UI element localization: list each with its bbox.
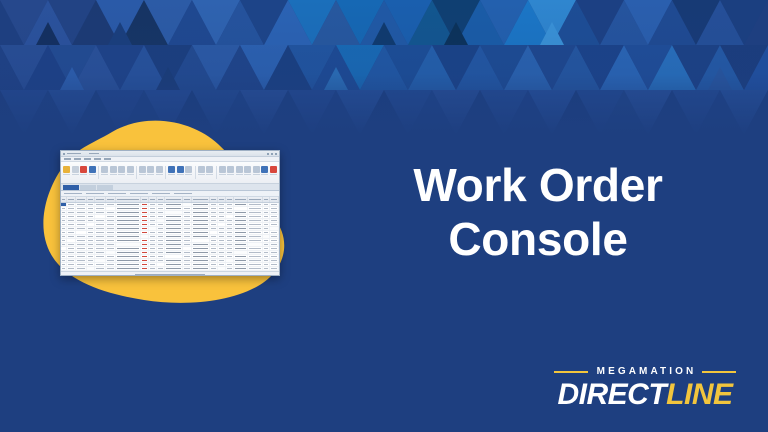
grid-column-header[interactable] xyxy=(87,197,95,202)
megamation-directline-logo: MEGAMATION DIRECTLINE xyxy=(550,366,740,410)
table-cell xyxy=(141,231,149,234)
table-cell xyxy=(234,255,248,258)
app-icon xyxy=(63,153,65,155)
table-cell xyxy=(149,211,157,214)
table-cell xyxy=(226,263,234,266)
table-cell xyxy=(106,227,116,230)
table-cell xyxy=(157,211,165,214)
table-cell xyxy=(165,259,183,262)
table-cell xyxy=(270,239,279,242)
table-cell xyxy=(141,235,149,238)
table-cell xyxy=(192,267,210,270)
table-cell xyxy=(87,207,95,210)
table-cell xyxy=(263,235,270,238)
table-cell xyxy=(116,235,140,238)
tab-work-orders[interactable] xyxy=(63,185,79,190)
table-cell xyxy=(95,259,106,262)
table-cell xyxy=(106,203,116,206)
table-cell xyxy=(157,215,165,218)
table-cell xyxy=(157,247,165,250)
menu-item-tools[interactable] xyxy=(94,158,101,160)
table-cell xyxy=(263,231,270,234)
table-cell xyxy=(263,239,270,242)
grid-column-header[interactable] xyxy=(76,197,86,202)
table-cell xyxy=(226,247,234,250)
table-cell xyxy=(116,243,140,246)
table-cell xyxy=(149,247,157,250)
page-title-line-1: Work Order xyxy=(336,158,740,212)
table-cell xyxy=(263,223,270,226)
menu-item-view[interactable] xyxy=(84,158,91,160)
table-cell xyxy=(95,239,106,242)
table-cell xyxy=(106,243,116,246)
table-cell xyxy=(76,227,86,230)
table-cell xyxy=(157,239,165,242)
table-cell xyxy=(67,251,76,254)
table-cell xyxy=(183,207,192,210)
table-cell xyxy=(157,203,165,206)
table-cell xyxy=(248,223,263,226)
table-cell xyxy=(192,251,210,254)
table-cell xyxy=(157,255,165,258)
table-cell xyxy=(106,235,116,238)
toolbar-separator xyxy=(216,166,217,179)
table-cell xyxy=(87,211,95,214)
table-cell xyxy=(76,223,86,226)
table-cell xyxy=(87,219,95,222)
table-cell xyxy=(263,215,270,218)
toolbar-sort-icon[interactable] xyxy=(147,165,154,181)
table-cell xyxy=(234,263,248,266)
table-cell xyxy=(67,215,76,218)
table-cell xyxy=(248,247,263,250)
table-cell xyxy=(263,251,270,254)
table-cell xyxy=(218,215,226,218)
grid-column-header[interactable] xyxy=(248,197,263,202)
table-cell xyxy=(149,243,157,246)
table-cell xyxy=(183,227,192,230)
toolbar-delete-icon[interactable] xyxy=(80,165,87,181)
table-cell xyxy=(165,215,183,218)
minimize-icon[interactable] xyxy=(267,153,269,155)
table-cell xyxy=(67,203,76,206)
table-cell xyxy=(87,215,95,218)
table-cell xyxy=(67,255,76,258)
table-cell xyxy=(248,255,263,258)
table-cell xyxy=(248,231,263,234)
toolbar-settings-icon[interactable] xyxy=(252,165,259,181)
toolbar-user-icon[interactable] xyxy=(261,165,268,181)
table-cell xyxy=(116,263,140,266)
table-cell xyxy=(157,227,165,230)
table-cell xyxy=(226,207,234,210)
table-cell xyxy=(192,243,210,246)
table-cell xyxy=(87,227,95,230)
toolbar-first-icon[interactable] xyxy=(218,165,225,181)
table-cell xyxy=(183,251,192,254)
table-cell xyxy=(106,255,116,258)
table-cell xyxy=(116,203,140,206)
table-cell xyxy=(87,223,95,226)
table-cell xyxy=(183,259,192,262)
table-cell xyxy=(218,239,226,242)
table-cell xyxy=(183,211,192,214)
filter-site[interactable] xyxy=(86,193,104,195)
table-cell xyxy=(149,255,157,258)
table-cell xyxy=(76,231,86,234)
table-cell xyxy=(95,219,106,222)
table-cell xyxy=(165,223,183,226)
table-cell xyxy=(67,231,76,234)
table-cell xyxy=(165,263,183,266)
table-cell xyxy=(234,207,248,210)
filter-priority[interactable] xyxy=(130,193,148,195)
table-cell xyxy=(95,247,106,250)
app-title-sub xyxy=(89,153,99,155)
table-cell xyxy=(270,251,279,254)
tab-pm[interactable] xyxy=(97,185,113,190)
table-cell xyxy=(67,259,76,262)
table-cell xyxy=(67,267,76,270)
close-icon[interactable] xyxy=(275,153,277,155)
table-cell xyxy=(234,251,248,254)
grid-column-header[interactable] xyxy=(157,197,165,202)
table-cell xyxy=(226,251,234,254)
table-cell xyxy=(270,223,279,226)
table-cell xyxy=(141,247,149,250)
toolbar-export-icon[interactable] xyxy=(177,165,184,181)
toolbar-separator xyxy=(165,166,166,179)
table-cell xyxy=(270,211,279,214)
slide-canvas: Work Order Console MEGAMATION DIRECTLINE xyxy=(0,0,768,432)
table-cell xyxy=(165,267,183,270)
table-cell xyxy=(192,247,210,250)
table-cell xyxy=(210,207,218,210)
table-cell xyxy=(248,243,263,246)
table-cell xyxy=(149,223,157,226)
table-cell xyxy=(106,215,116,218)
table-cell xyxy=(234,239,248,242)
toolbar-paste-icon[interactable] xyxy=(126,165,133,181)
table-cell xyxy=(87,247,95,250)
table-cell xyxy=(67,223,76,226)
table-cell xyxy=(218,251,226,254)
table-cell xyxy=(116,247,140,250)
toolbar-back-icon[interactable] xyxy=(71,165,78,181)
filter-date[interactable] xyxy=(152,193,170,195)
grid-column-header[interactable] xyxy=(95,197,106,202)
table-cell xyxy=(210,267,218,270)
toolbar-save-icon[interactable] xyxy=(88,165,95,181)
table-cell xyxy=(141,267,149,270)
table-cell xyxy=(165,227,183,230)
table-cell xyxy=(76,235,86,238)
table-cell xyxy=(183,203,192,206)
table-cell xyxy=(116,267,140,270)
table-cell xyxy=(234,231,248,234)
table-cell xyxy=(218,267,226,270)
table-cell xyxy=(270,207,279,210)
table-cell xyxy=(95,235,106,238)
table-cell xyxy=(183,219,192,222)
filter-status[interactable] xyxy=(64,193,82,195)
table-cell xyxy=(87,255,95,258)
table-cell xyxy=(157,243,165,246)
table-cell xyxy=(263,259,270,262)
table-cell xyxy=(263,243,270,246)
table-cell xyxy=(192,259,210,262)
table-cell xyxy=(218,259,226,262)
table-cell xyxy=(183,247,192,250)
table-cell xyxy=(270,255,279,258)
table-cell xyxy=(149,235,157,238)
table-cell xyxy=(116,215,140,218)
table-cell xyxy=(263,203,270,206)
table-cell xyxy=(218,219,226,222)
table-cell xyxy=(116,231,140,234)
table-cell xyxy=(263,219,270,222)
table-cell xyxy=(192,235,210,238)
table-cell xyxy=(226,267,234,270)
table-cell xyxy=(141,219,149,222)
table-cell xyxy=(248,251,263,254)
table-cell xyxy=(95,203,106,206)
table-cell xyxy=(157,223,165,226)
table-cell xyxy=(141,259,149,262)
table-cell xyxy=(76,207,86,210)
toolbar-assign-icon[interactable] xyxy=(198,165,205,181)
table-cell xyxy=(270,263,279,266)
toolbar-next-icon[interactable] xyxy=(235,165,242,181)
table-cell xyxy=(226,239,234,242)
table-cell xyxy=(106,223,116,226)
table-cell xyxy=(263,211,270,214)
table-cell xyxy=(149,203,157,206)
table-cell xyxy=(226,227,234,230)
table-cell xyxy=(226,259,234,262)
table-cell xyxy=(141,203,149,206)
table-cell xyxy=(165,211,183,214)
table-cell xyxy=(234,267,248,270)
table-cell xyxy=(218,235,226,238)
table-cell xyxy=(95,223,106,226)
table-cell xyxy=(248,227,263,230)
table-cell xyxy=(149,259,157,262)
table-cell xyxy=(226,231,234,234)
page-title-line-2: Console xyxy=(336,212,740,266)
table-cell xyxy=(248,211,263,214)
table-cell xyxy=(95,231,106,234)
table-cell xyxy=(95,263,106,266)
table-cell xyxy=(76,267,86,270)
table-cell xyxy=(263,263,270,266)
table-cell xyxy=(226,235,234,238)
table-cell xyxy=(141,207,149,210)
table-cell xyxy=(106,207,116,210)
table-cell xyxy=(270,219,279,222)
table-cell xyxy=(234,219,248,222)
grid-status-bar xyxy=(61,271,279,276)
table-cell xyxy=(87,251,95,254)
table-cell xyxy=(218,263,226,266)
table-cell xyxy=(183,263,192,266)
toolbar-close-module-icon[interactable] xyxy=(269,165,276,181)
grid-body[interactable] xyxy=(61,203,279,271)
grid-column-header[interactable] xyxy=(183,197,192,202)
toolbar-schedule-icon[interactable] xyxy=(206,165,213,181)
toolbar-new-icon[interactable] xyxy=(101,165,108,181)
grid-column-header[interactable] xyxy=(218,197,226,202)
table-cell xyxy=(76,255,86,258)
table-cell xyxy=(141,215,149,218)
grid-column-header[interactable] xyxy=(141,197,149,202)
table-cell xyxy=(106,231,116,234)
grid-column-header[interactable] xyxy=(67,197,76,202)
table-cell xyxy=(248,239,263,242)
table-cell xyxy=(210,223,218,226)
table-cell xyxy=(141,251,149,254)
table-cell xyxy=(76,203,86,206)
table-cell xyxy=(165,207,183,210)
table-cell xyxy=(226,203,234,206)
grid-column-header[interactable] xyxy=(165,197,183,202)
table-cell xyxy=(149,239,157,242)
table-cell xyxy=(270,215,279,218)
table-cell xyxy=(165,243,183,246)
logo-brand-line: LINE xyxy=(666,378,732,411)
table-cell xyxy=(218,243,226,246)
table-cell xyxy=(149,231,157,234)
table-cell xyxy=(141,263,149,266)
grid-column-header[interactable] xyxy=(270,197,279,202)
table-cell xyxy=(192,239,210,242)
table-cell xyxy=(157,231,165,234)
table-cell xyxy=(95,255,106,258)
table-cell xyxy=(76,219,86,222)
table-cell xyxy=(248,267,263,270)
table-cell xyxy=(76,259,86,262)
table-cell xyxy=(210,243,218,246)
table-cell xyxy=(157,219,165,222)
table-cell xyxy=(210,211,218,214)
grid-column-header[interactable] xyxy=(234,197,248,202)
table-cell xyxy=(192,211,210,214)
table-cell xyxy=(149,227,157,230)
app-toolbar xyxy=(61,162,279,184)
filter-assigned[interactable] xyxy=(174,193,192,195)
table-cell xyxy=(248,235,263,238)
toolbar-open-icon[interactable] xyxy=(109,165,116,181)
table-cell xyxy=(165,235,183,238)
menu-item-edit[interactable] xyxy=(74,158,81,160)
filter-trade[interactable] xyxy=(108,193,126,195)
table-cell xyxy=(218,247,226,250)
table-cell xyxy=(192,223,210,226)
table-cell xyxy=(141,227,149,230)
table-cell xyxy=(67,219,76,222)
grid-column-header[interactable] xyxy=(106,197,116,202)
toolbar-chart-icon[interactable] xyxy=(185,165,192,181)
table-cell xyxy=(76,239,86,242)
menu-item-help[interactable] xyxy=(104,158,111,160)
table-cell xyxy=(149,219,157,222)
table-cell xyxy=(210,255,218,258)
toolbar-print-icon[interactable] xyxy=(168,165,175,181)
table-cell xyxy=(106,211,116,214)
toolbar-filter-icon[interactable] xyxy=(139,165,146,181)
table-cell xyxy=(87,203,95,206)
table-cell xyxy=(165,219,183,222)
table-cell xyxy=(183,267,192,270)
table-cell xyxy=(234,211,248,214)
table-cell xyxy=(141,243,149,246)
table-cell xyxy=(116,223,140,226)
table-cell xyxy=(149,251,157,254)
toolbar-prev-icon[interactable] xyxy=(227,165,234,181)
table-cell xyxy=(76,243,86,246)
table-cell xyxy=(270,247,279,250)
table-cell xyxy=(106,247,116,250)
table-cell xyxy=(218,255,226,258)
grid-column-header[interactable] xyxy=(149,197,157,202)
grid-column-header[interactable] xyxy=(210,197,218,202)
grid-column-header[interactable] xyxy=(226,197,234,202)
table-cell xyxy=(234,215,248,218)
table-cell xyxy=(157,207,165,210)
grid-column-header[interactable] xyxy=(192,197,210,202)
table-cell xyxy=(165,251,183,254)
table-cell xyxy=(192,231,210,234)
pattern-fade-overlay xyxy=(0,0,768,135)
table-cell xyxy=(248,263,263,266)
table-cell xyxy=(226,255,234,258)
toolbar-last-icon[interactable] xyxy=(244,165,251,181)
table-cell xyxy=(270,259,279,262)
table-cell xyxy=(183,235,192,238)
menu-item-file[interactable] xyxy=(64,158,71,160)
table-cell xyxy=(226,223,234,226)
grid-column-header[interactable] xyxy=(116,197,140,202)
work-order-grid[interactable] xyxy=(61,197,279,271)
table-cell xyxy=(263,255,270,258)
table-cell xyxy=(248,219,263,222)
table-cell xyxy=(263,207,270,210)
table-cell xyxy=(157,259,165,262)
table-cell xyxy=(226,211,234,214)
table-cell xyxy=(67,227,76,230)
table-cell xyxy=(210,259,218,262)
table-cell xyxy=(218,211,226,214)
table-cell xyxy=(67,263,76,266)
table-cell xyxy=(270,267,279,270)
toolbar-refresh-icon[interactable] xyxy=(63,165,70,181)
toolbar-copy-icon[interactable] xyxy=(118,165,125,181)
page-title: Work Order Console xyxy=(336,158,740,266)
table-cell xyxy=(116,239,140,242)
logo-brand-direct: DIRECT xyxy=(557,378,666,411)
table-cell xyxy=(263,267,270,270)
table-cell xyxy=(165,239,183,242)
table-cell xyxy=(270,243,279,246)
tab-requests[interactable] xyxy=(80,185,96,190)
grid-column-header[interactable] xyxy=(263,197,270,202)
table-cell xyxy=(234,235,248,238)
table-cell xyxy=(76,251,86,254)
maximize-icon[interactable] xyxy=(271,153,273,155)
toolbar-search-icon[interactable] xyxy=(156,165,163,181)
table-cell xyxy=(76,263,86,266)
table-cell xyxy=(67,211,76,214)
